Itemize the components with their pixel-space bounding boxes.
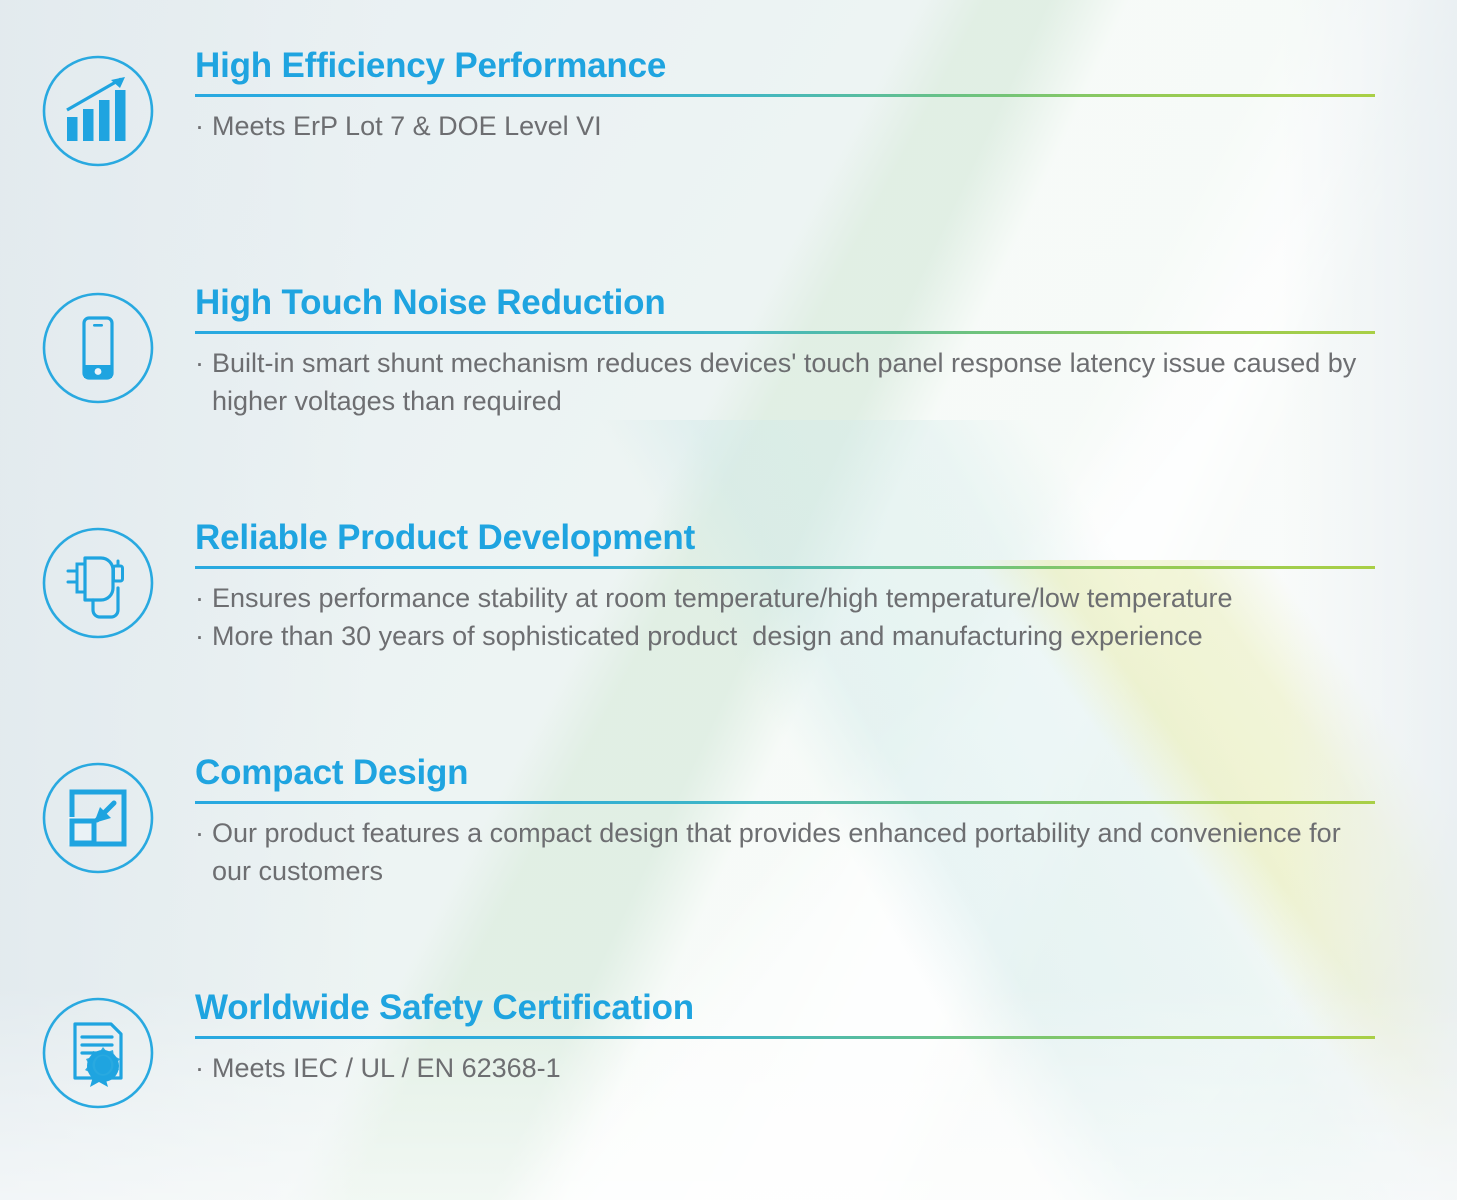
feature-bullet-list: · Built-in smart shunt mechanism reduces…: [195, 344, 1375, 421]
feature-highlights-page: High Efficiency Performance · Meets ErP …: [0, 0, 1457, 1200]
feature-bullet-list: · Meets IEC / UL / EN 62368-1: [195, 1049, 1375, 1087]
feature-bullet: · Meets ErP Lot 7 & DOE Level VI: [195, 107, 1375, 145]
bullet-marker-icon: ·: [195, 344, 204, 382]
feature-title: High Efficiency Performance: [195, 48, 1375, 85]
feature-icon-container: [0, 520, 195, 642]
feature-bullet: · Built-in smart shunt mechanism reduces…: [195, 344, 1375, 421]
feature-divider: [195, 94, 1375, 97]
feature-bullet: · Meets IEC / UL / EN 62368-1: [195, 1049, 1375, 1087]
bullet-text: Meets ErP Lot 7 & DOE Level VI: [212, 107, 1375, 145]
certificate-award-icon: [39, 994, 157, 1112]
feature-divider: [195, 331, 1375, 334]
feature-text-container: Reliable Product Development · Ensures p…: [195, 520, 1457, 655]
bullet-text: Our product features a compact design th…: [212, 814, 1375, 891]
feature-icon-container: [0, 48, 195, 170]
feature-item-high-touch-noise-reduction: High Touch Noise Reduction · Built-in sm…: [0, 285, 1457, 420]
feature-title: Worldwide Safety Certification: [195, 990, 1375, 1027]
feature-title: High Touch Noise Reduction: [195, 285, 1375, 322]
feature-item-compact-design: Compact Design · Our product features a …: [0, 755, 1457, 890]
feature-divider: [195, 1036, 1375, 1039]
power-adapter-icon: [39, 524, 157, 642]
bullet-text: More than 30 years of sophisticated prod…: [212, 617, 1375, 655]
feature-bullet-list: · Meets ErP Lot 7 & DOE Level VI: [195, 107, 1375, 145]
feature-bullet-list: · Our product features a compact design …: [195, 814, 1375, 891]
feature-icon-container: [0, 285, 195, 407]
feature-text-container: High Efficiency Performance · Meets ErP …: [195, 48, 1457, 145]
bullet-marker-icon: ·: [195, 617, 204, 655]
bullet-marker-icon: ·: [195, 1049, 204, 1087]
feature-text-container: Worldwide Safety Certification · Meets I…: [195, 990, 1457, 1087]
feature-icon-container: [0, 755, 195, 877]
smartphone-icon: [39, 289, 157, 407]
feature-item-high-efficiency-performance: High Efficiency Performance · Meets ErP …: [0, 48, 1457, 170]
feature-item-worldwide-safety-certification: Worldwide Safety Certification · Meets I…: [0, 990, 1457, 1112]
feature-title: Reliable Product Development: [195, 520, 1375, 557]
feature-title: Compact Design: [195, 755, 1375, 792]
bullet-marker-icon: ·: [195, 814, 204, 852]
feature-divider: [195, 566, 1375, 569]
feature-text-container: High Touch Noise Reduction · Built-in sm…: [195, 285, 1457, 420]
bullet-text: Ensures performance stability at room te…: [212, 579, 1375, 617]
feature-bullet: · Our product features a compact design …: [195, 814, 1375, 891]
growth-bar-chart-icon: [39, 52, 157, 170]
feature-item-reliable-product-development: Reliable Product Development · Ensures p…: [0, 520, 1457, 655]
feature-bullet: · Ensures performance stability at room …: [195, 579, 1375, 617]
compact-resize-icon: [39, 759, 157, 877]
bullet-marker-icon: ·: [195, 107, 204, 145]
feature-bullet: · More than 30 years of sophisticated pr…: [195, 617, 1375, 655]
feature-icon-container: [0, 990, 195, 1112]
feature-divider: [195, 801, 1375, 804]
bullet-text: Built-in smart shunt mechanism reduces d…: [212, 344, 1375, 421]
feature-text-container: Compact Design · Our product features a …: [195, 755, 1457, 890]
bullet-marker-icon: ·: [195, 579, 204, 617]
bullet-text: Meets IEC / UL / EN 62368-1: [212, 1049, 1375, 1087]
feature-bullet-list: · Ensures performance stability at room …: [195, 579, 1375, 656]
